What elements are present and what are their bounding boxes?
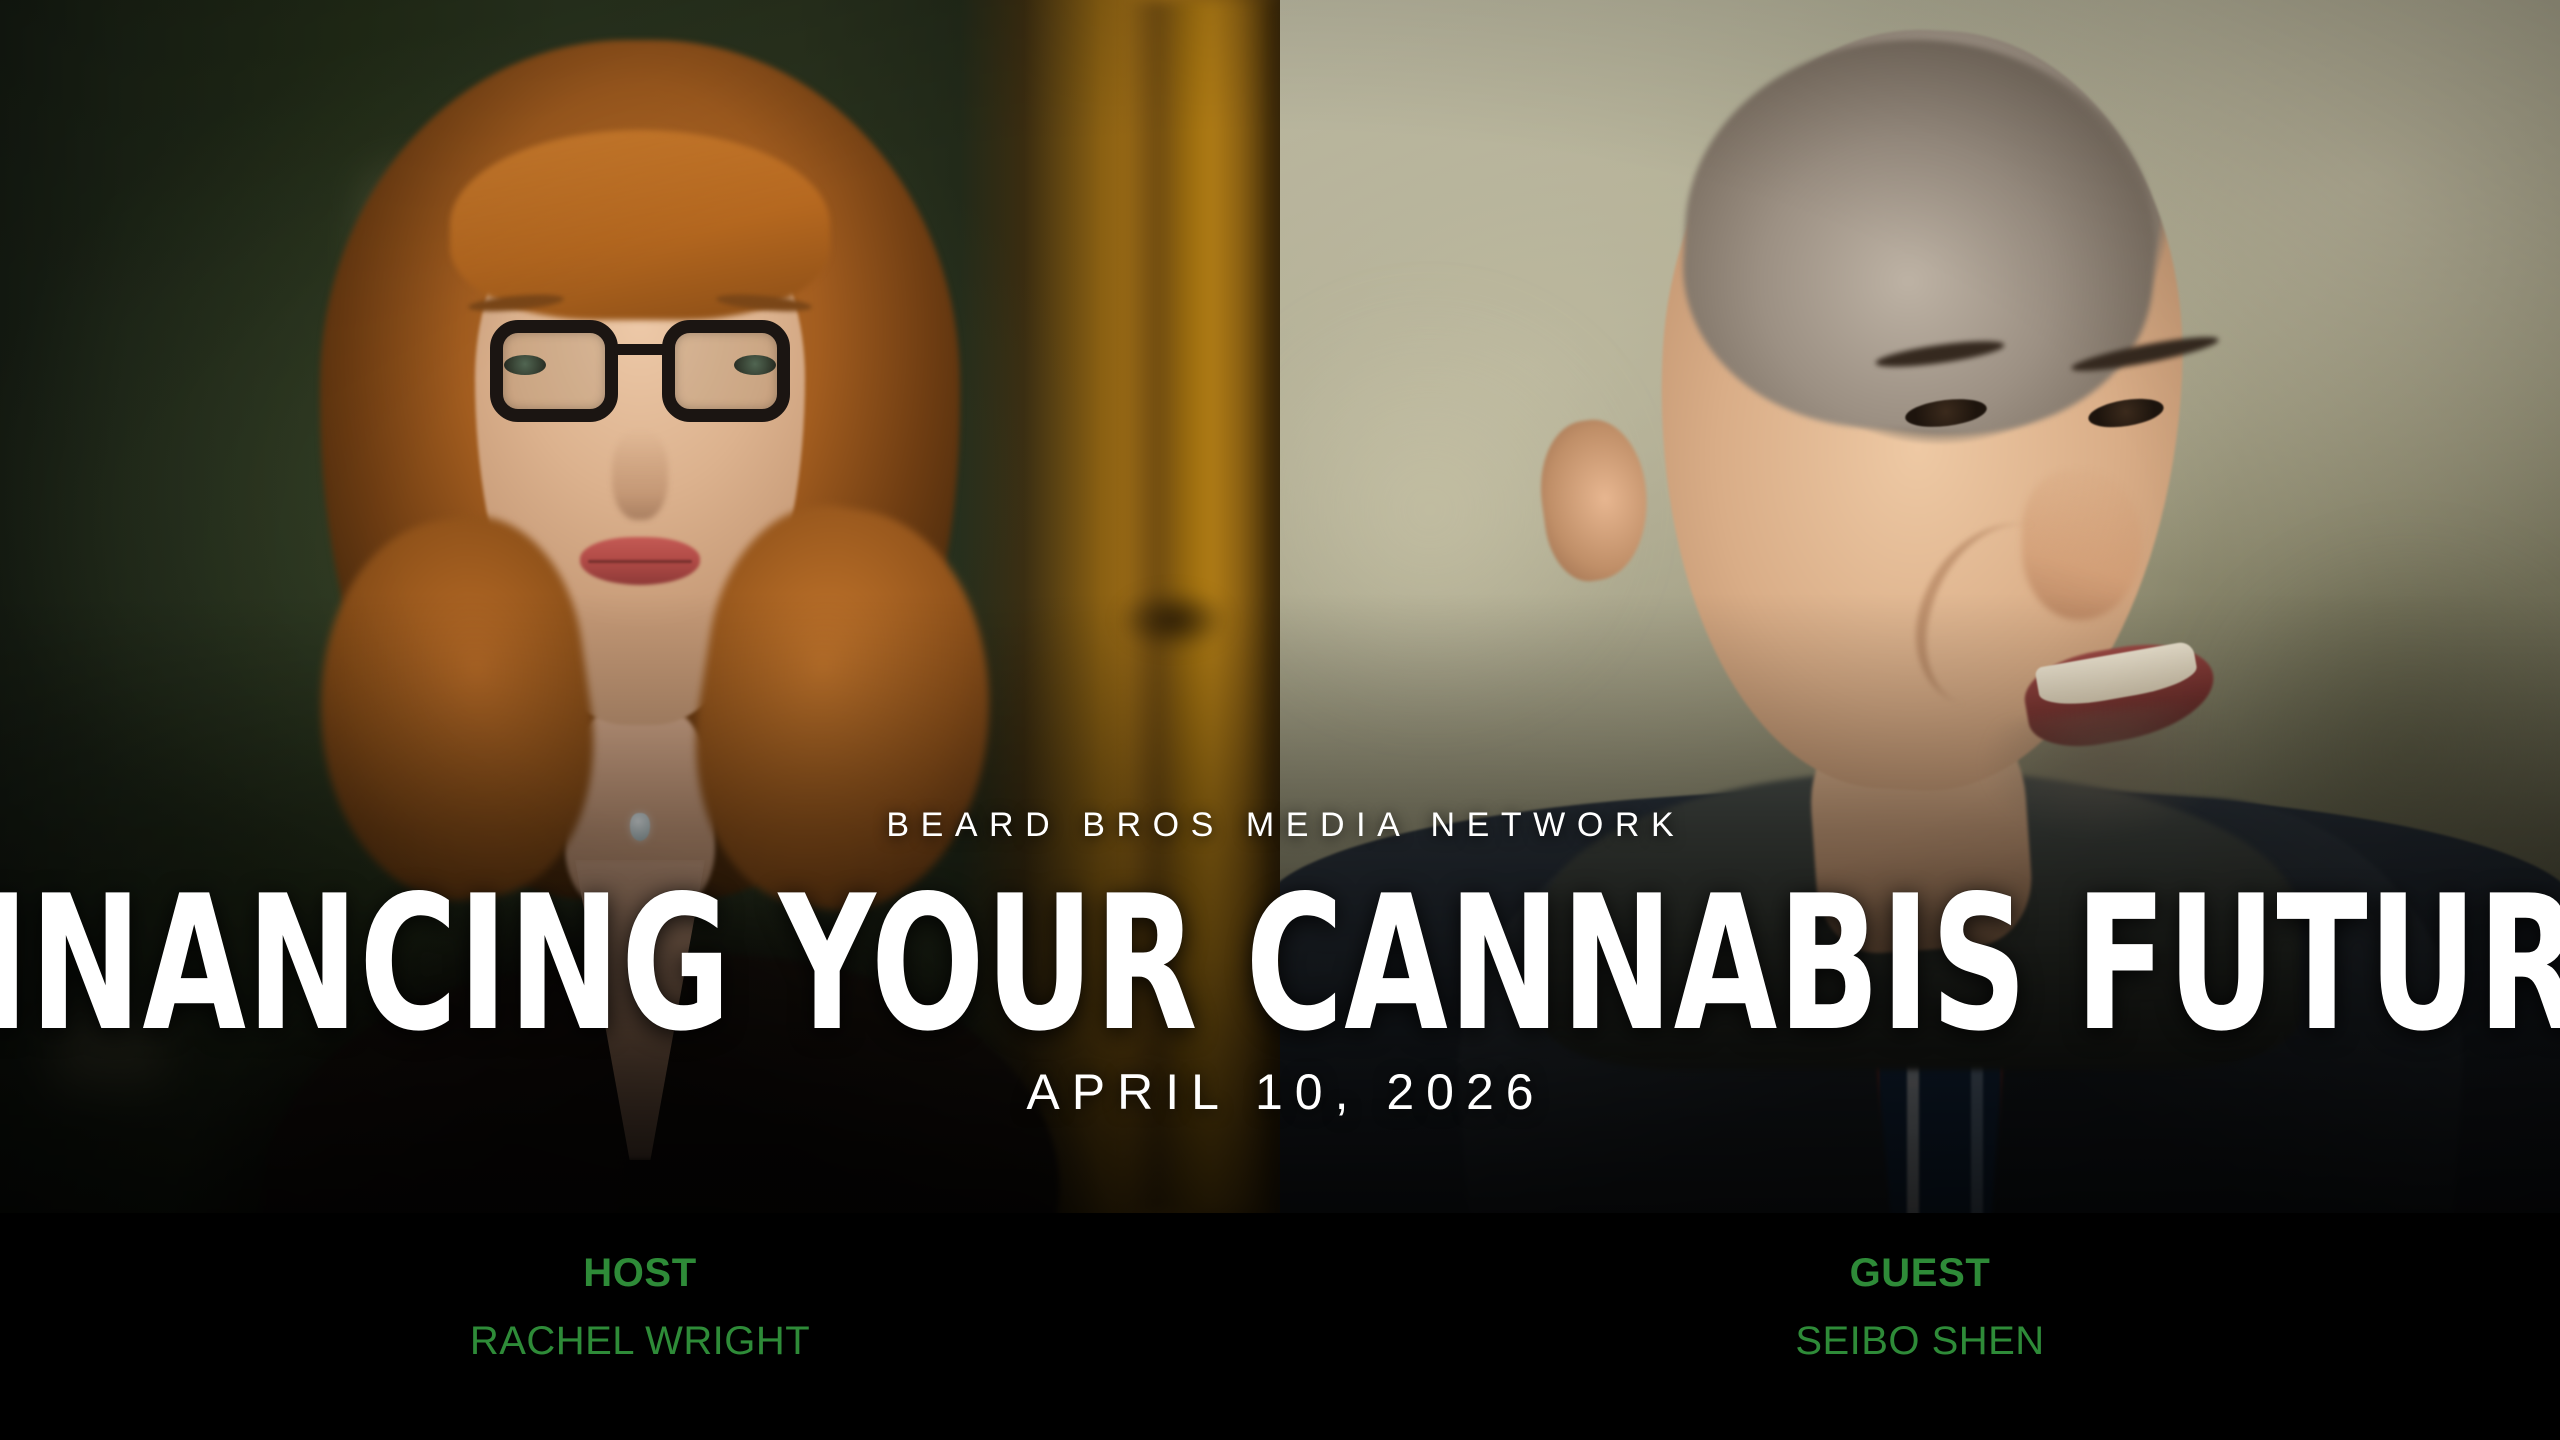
host-nose xyxy=(612,430,668,520)
host-pendant-necklace xyxy=(630,813,650,841)
guest-role-label: GUEST xyxy=(1850,1253,1991,1293)
guest-name: SEIBO SHEN xyxy=(1795,1321,2044,1361)
episode-title-card: BEARD BROS MEDIA NETWORK FINANCING YOUR … xyxy=(0,0,2560,1440)
host-eyeglasses xyxy=(490,320,790,430)
credits-bar: HOST RACHEL WRIGHT GUEST SEIBO SHEN xyxy=(0,1213,2560,1440)
host-name: RACHEL WRIGHT xyxy=(470,1321,810,1361)
eyeglass-lens-left xyxy=(490,320,618,422)
guest-chin-stubble xyxy=(1974,697,2246,853)
host-lip-line xyxy=(588,560,692,563)
wood-knot xyxy=(1118,590,1228,650)
host-role-label: HOST xyxy=(583,1253,697,1293)
host-portrait-photo xyxy=(0,0,1280,1213)
eyeglass-lens-right xyxy=(662,320,790,422)
guest-portrait-photo xyxy=(1280,0,2560,1213)
portrait-band xyxy=(0,0,2560,1213)
host-credit: HOST RACHEL WRIGHT xyxy=(0,1213,1280,1440)
guest-credit: GUEST SEIBO SHEN xyxy=(1280,1213,2560,1440)
host-hair-fringe xyxy=(450,130,830,320)
eyeglass-bridge xyxy=(614,344,666,355)
